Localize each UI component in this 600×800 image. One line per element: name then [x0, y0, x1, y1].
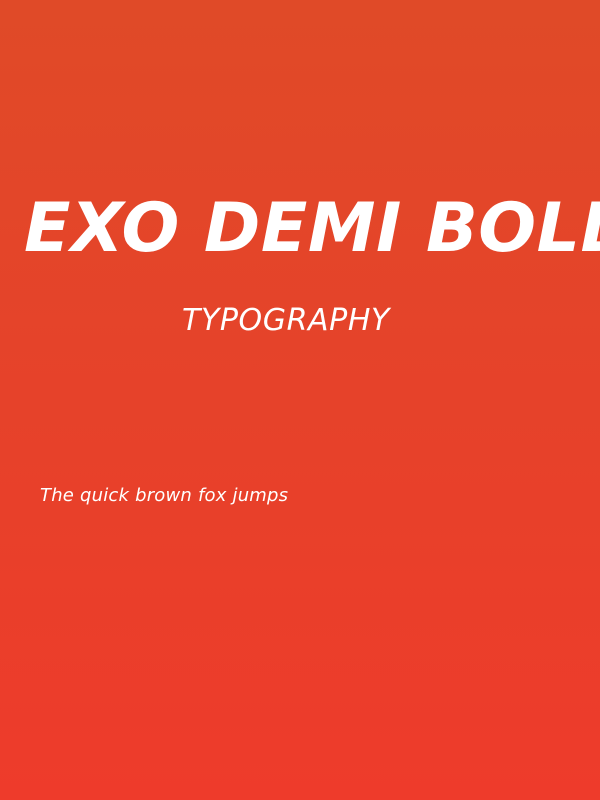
- specimen-subtitle: TYPOGRAPHY: [0, 303, 572, 339]
- font-specimen-card: EXO DEMI BOLD ITALIC TYPOGRAPHY The quic…: [0, 0, 600, 800]
- specimen-sample-text: The quick brown fox jumps: [40, 484, 288, 508]
- specimen-headline: EXO DEMI BOLD ITALIC: [24, 184, 600, 274]
